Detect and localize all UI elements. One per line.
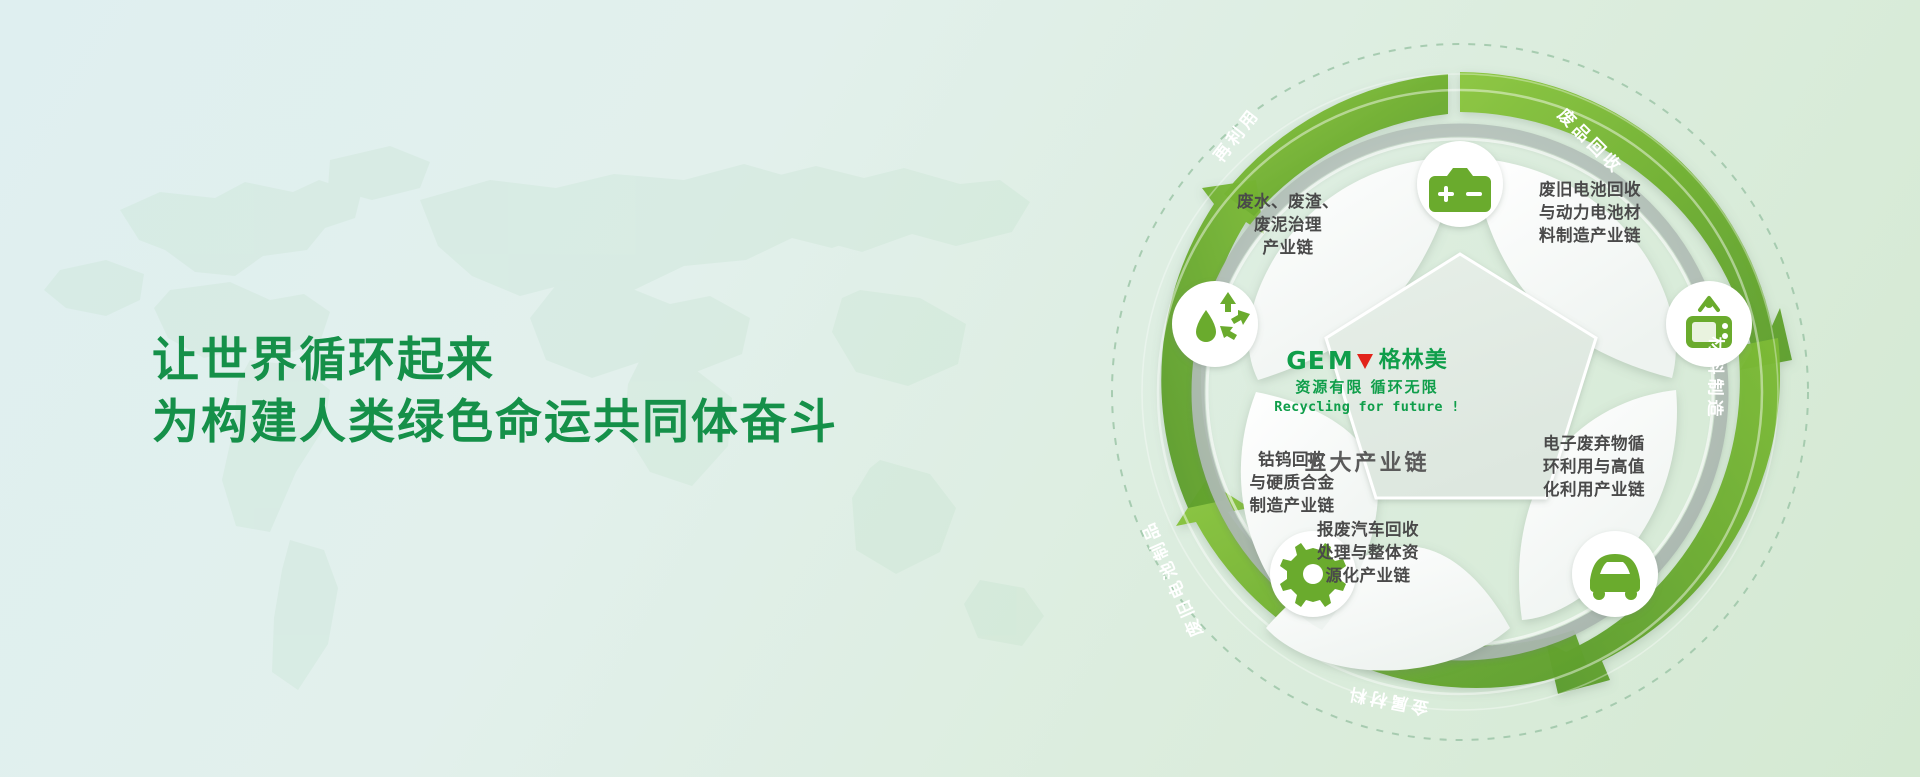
logo-triangle-icon: [1357, 354, 1373, 369]
battery-icon-badge: [1417, 141, 1503, 227]
television-icon-badge: [1666, 281, 1752, 367]
gear-icon-badge: [1270, 531, 1356, 617]
logo-brand-cn: 格林美: [1379, 348, 1448, 374]
car-icon-badge: [1572, 531, 1658, 617]
recycle-drop-icon-badge: [1172, 281, 1258, 367]
logo-slogan-cn: 资源有限 循环无限: [1262, 376, 1472, 397]
headline-line-2: 为构建人类绿色命运共同体奋斗: [152, 392, 838, 454]
headline-line-1: 让世界循环起来: [152, 330, 838, 392]
headline: 让世界循环起来 为构建人类绿色命运共同体奋斗: [152, 330, 838, 454]
logo-mark-letter-m: M: [1328, 348, 1354, 374]
logo-mark-latin: GE: [1286, 348, 1326, 374]
logo-slogan-en: Recycling for future !: [1262, 399, 1472, 415]
banner-stage: 让世界循环起来 为构建人类绿色命运共同体奋斗: [0, 0, 1920, 777]
center-caption: 五大产业链: [1262, 445, 1472, 477]
gem-logo: GE M 格林美 资源有限 循环无限 Recycling for future …: [1262, 348, 1472, 477]
